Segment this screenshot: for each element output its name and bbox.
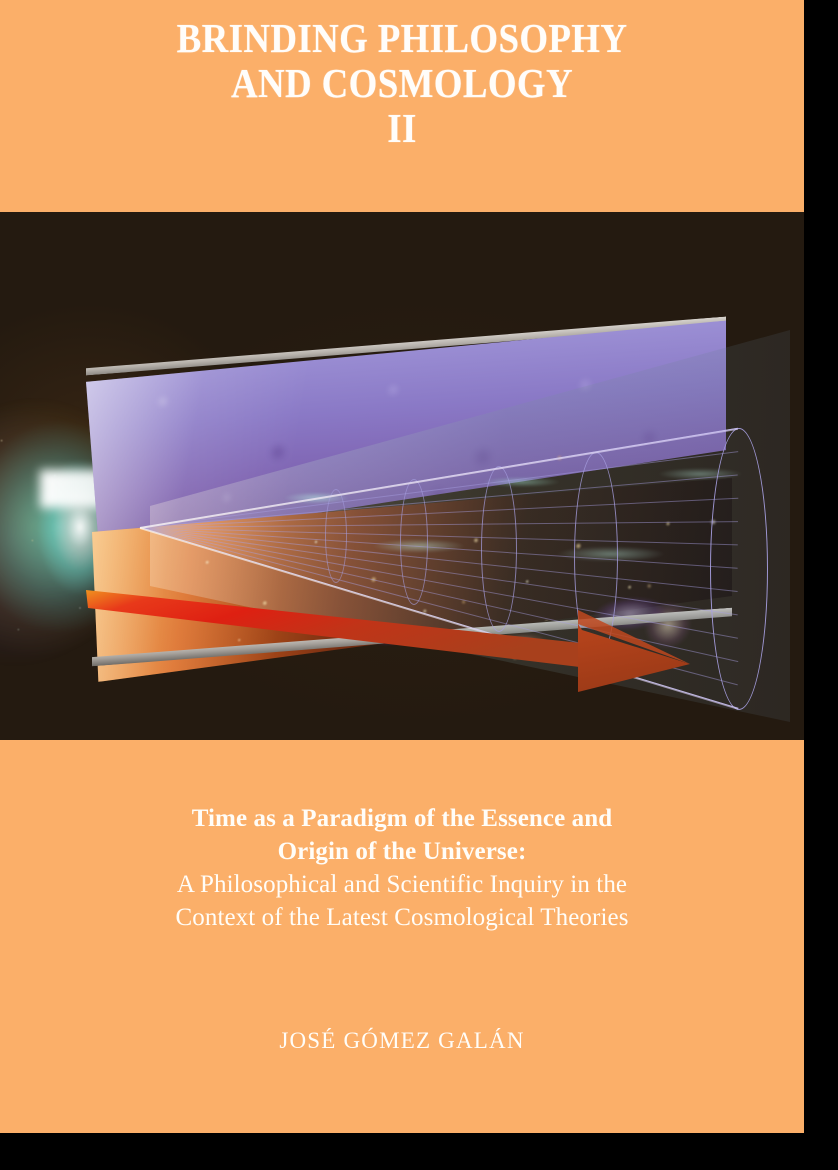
title-line-2: AND COSMOLOGY [40,61,764,106]
cone-edge-top [140,428,738,529]
title-line-1: BRINDING PHILOSOPHY [40,16,764,61]
cone-ring-5 [710,428,768,710]
cover-artwork [0,212,804,740]
subtitle-bold: Time as a Paradigm of the Essence and Or… [60,802,744,868]
book-cover: BRINDING PHILOSOPHY AND COSMOLOGY II [0,0,838,1170]
author-name: JOSÉ GÓMEZ GALÁN [60,1028,744,1054]
time-arrow [78,580,698,700]
subtitle-bold-line-2: Origin of the Universe: [278,838,527,865]
title-band: BRINDING PHILOSOPHY AND COSMOLOGY II [0,0,804,212]
subtitle-light-line-2: Context of the Latest Cosmological Theor… [175,904,628,931]
subtitle-light: A Philosophical and Scientific Inquiry i… [60,868,744,934]
cover-body: BRINDING PHILOSOPHY AND COSMOLOGY II [0,0,804,1133]
cone-meridian-2 [140,451,738,528]
title-volume-number: II [40,106,764,151]
page-title: BRINDING PHILOSOPHY AND COSMOLOGY II [40,16,764,151]
bottom-band: Time as a Paradigm of the Essence and Or… [0,740,804,1133]
subtitle-light-line-1: A Philosophical and Scientific Inquiry i… [177,871,627,898]
subtitle-bold-line-1: Time as a Paradigm of the Essence and [192,805,613,832]
